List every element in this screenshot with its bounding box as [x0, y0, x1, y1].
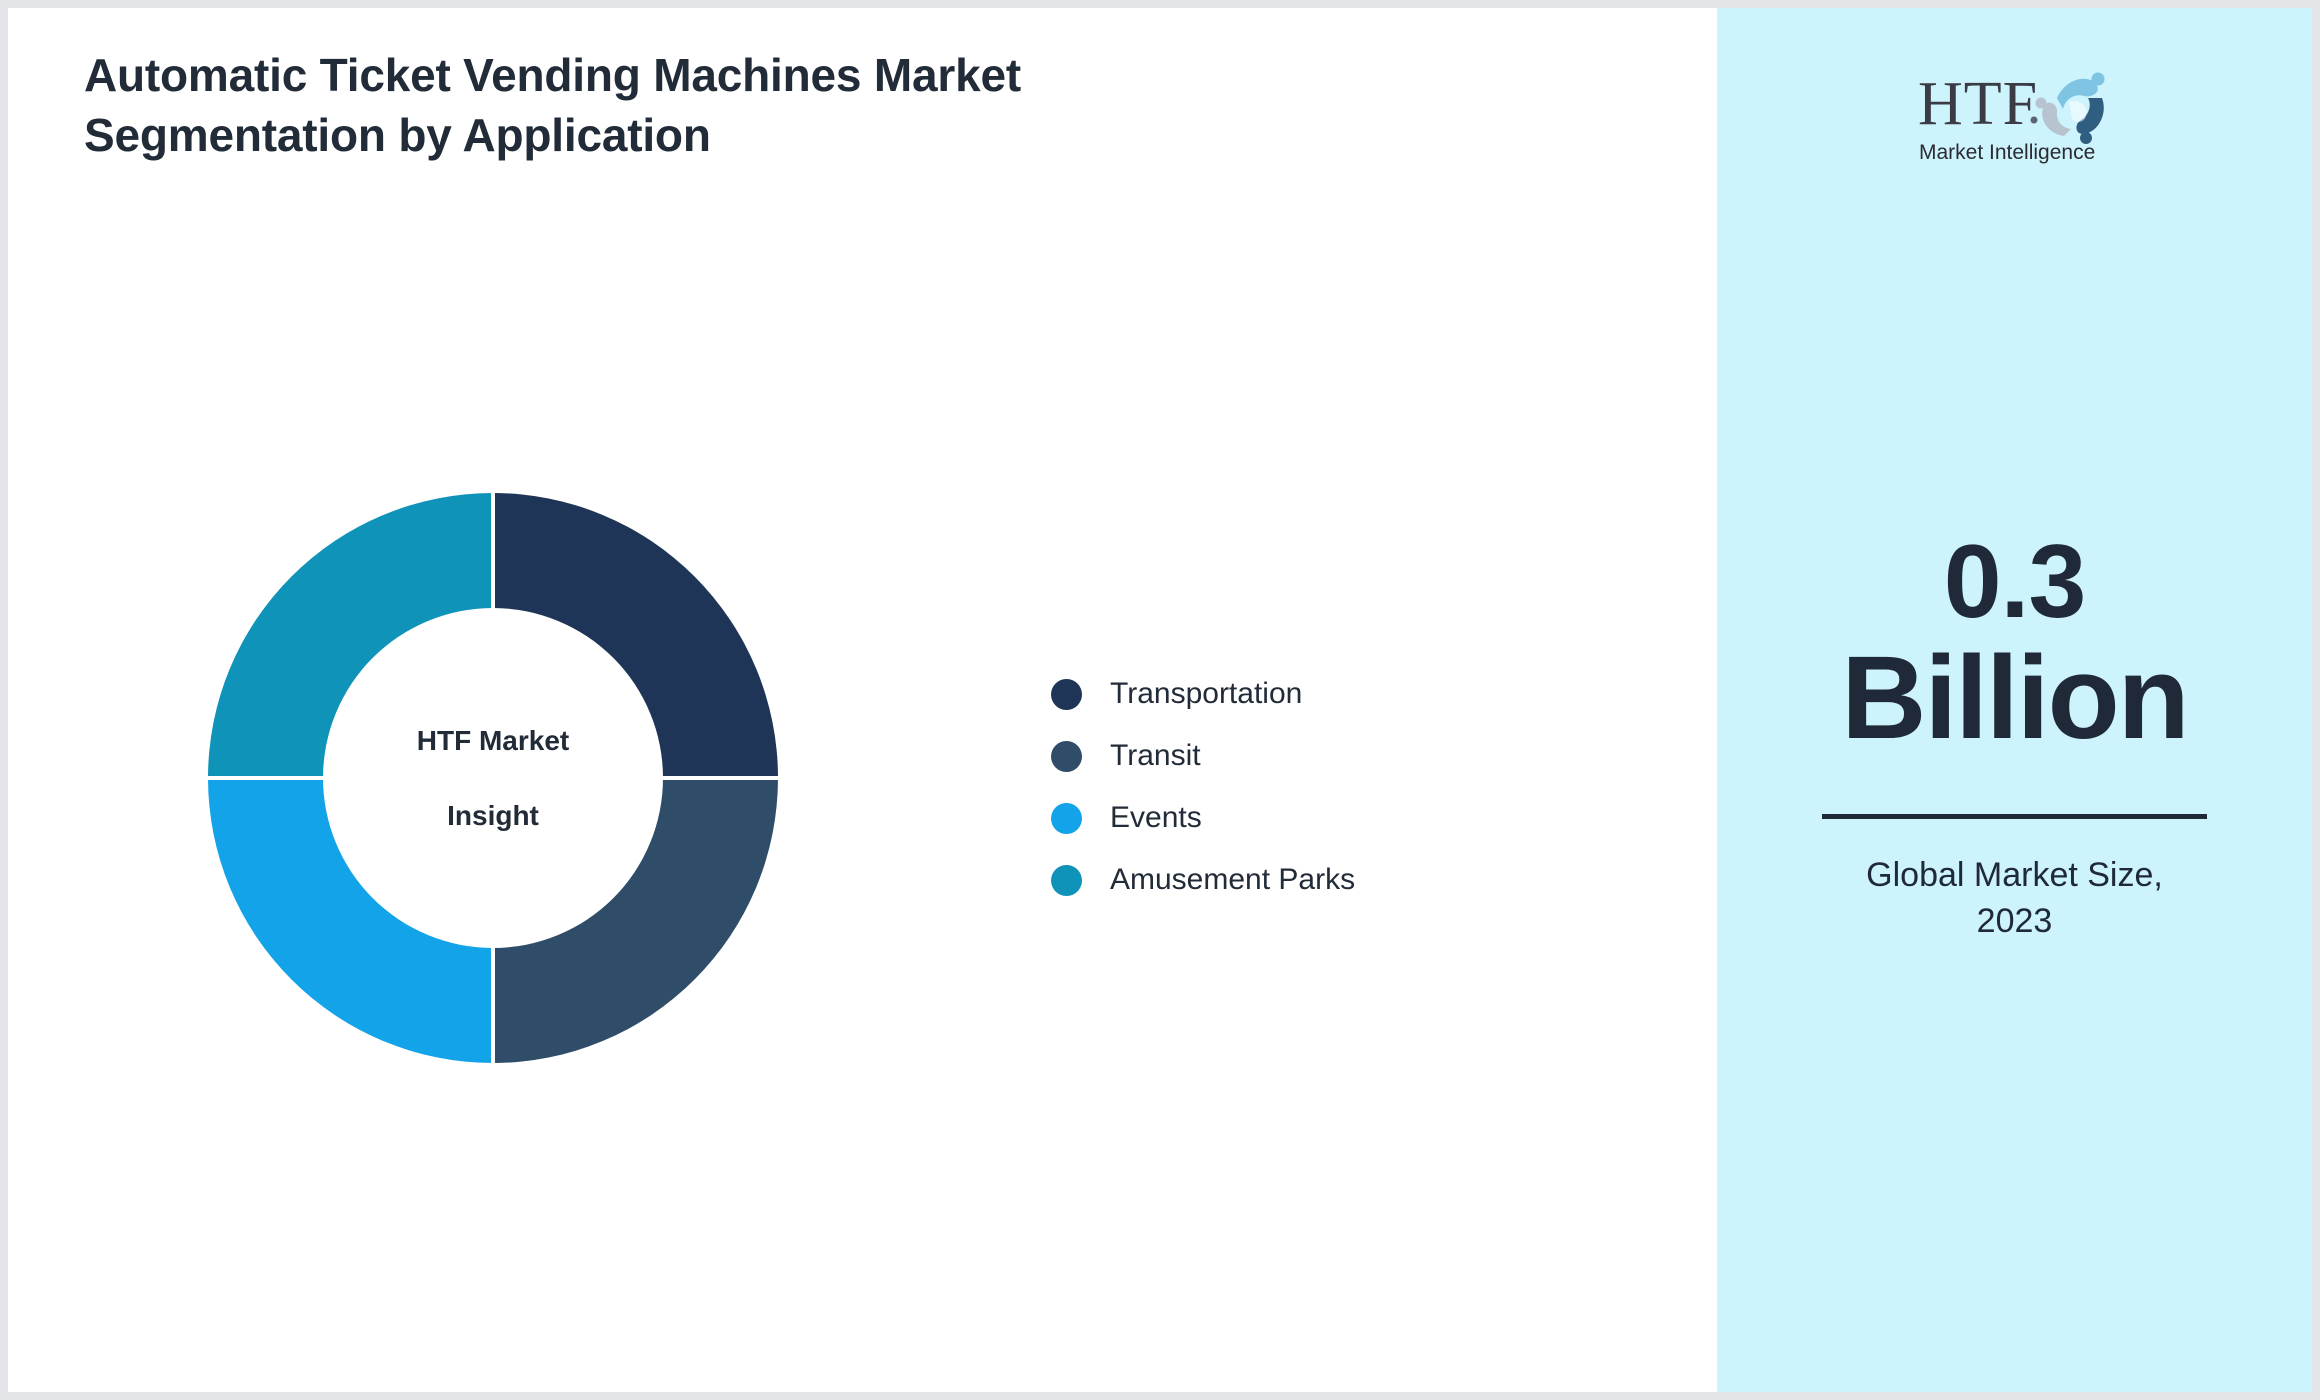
htf-logo[interactable]: HTF Market Intelligence — [1916, 62, 2112, 166]
legend-label: Amusement Parks — [1110, 863, 1355, 897]
legend-swatch-icon — [1051, 741, 1082, 772]
legend-swatch-icon — [1051, 679, 1082, 710]
htf-tagline-text: Market Intelligence — [1919, 141, 2095, 164]
legend-label: Transportation — [1110, 677, 1302, 711]
market-size-stat: 0.3 Billion Global Market Size, 2023 — [1717, 530, 2312, 945]
page-title: Automatic Ticket Vending Machines Market… — [84, 46, 1084, 166]
htf-logo-svg: HTF Market Intelligence — [1916, 62, 2112, 166]
donut-chart: HTF Market Insight — [198, 483, 788, 1073]
legend-item-events[interactable]: Events — [1051, 787, 1571, 849]
stat-value: 0.3 — [1717, 530, 2312, 634]
donut-slice-transportation[interactable] — [493, 493, 778, 778]
legend-item-transit[interactable]: Transit — [1051, 725, 1571, 787]
legend-item-transportation[interactable]: Transportation — [1051, 663, 1571, 725]
stat-divider — [1822, 814, 2207, 819]
legend-label: Events — [1110, 801, 1202, 835]
donut-slice-transit[interactable] — [493, 778, 778, 1063]
htf-dot-icon — [2031, 117, 2038, 124]
donut-slice-events[interactable] — [208, 778, 493, 1063]
donut-slice-amusement-parks[interactable] — [208, 493, 493, 778]
legend-item-amusement-parks[interactable]: Amusement Parks — [1051, 849, 1571, 911]
legend-swatch-icon — [1051, 803, 1082, 834]
stat-caption: Global Market Size, 2023 — [1835, 853, 2195, 945]
htf-swirl-icon — [2036, 73, 2105, 145]
legend-swatch-icon — [1051, 865, 1082, 896]
htf-wordmark-text: HTF — [1918, 70, 2038, 138]
infographic-canvas: Automatic Ticket Vending Machines Market… — [0, 0, 2320, 1400]
chart-legend: Transportation Transit Events Amusement … — [1051, 663, 1571, 911]
legend-label: Transit — [1110, 739, 1201, 773]
donut-chart-svg — [198, 483, 788, 1073]
left-content-panel: Automatic Ticket Vending Machines Market… — [8, 8, 1717, 1392]
stat-unit: Billion — [1717, 638, 2312, 758]
